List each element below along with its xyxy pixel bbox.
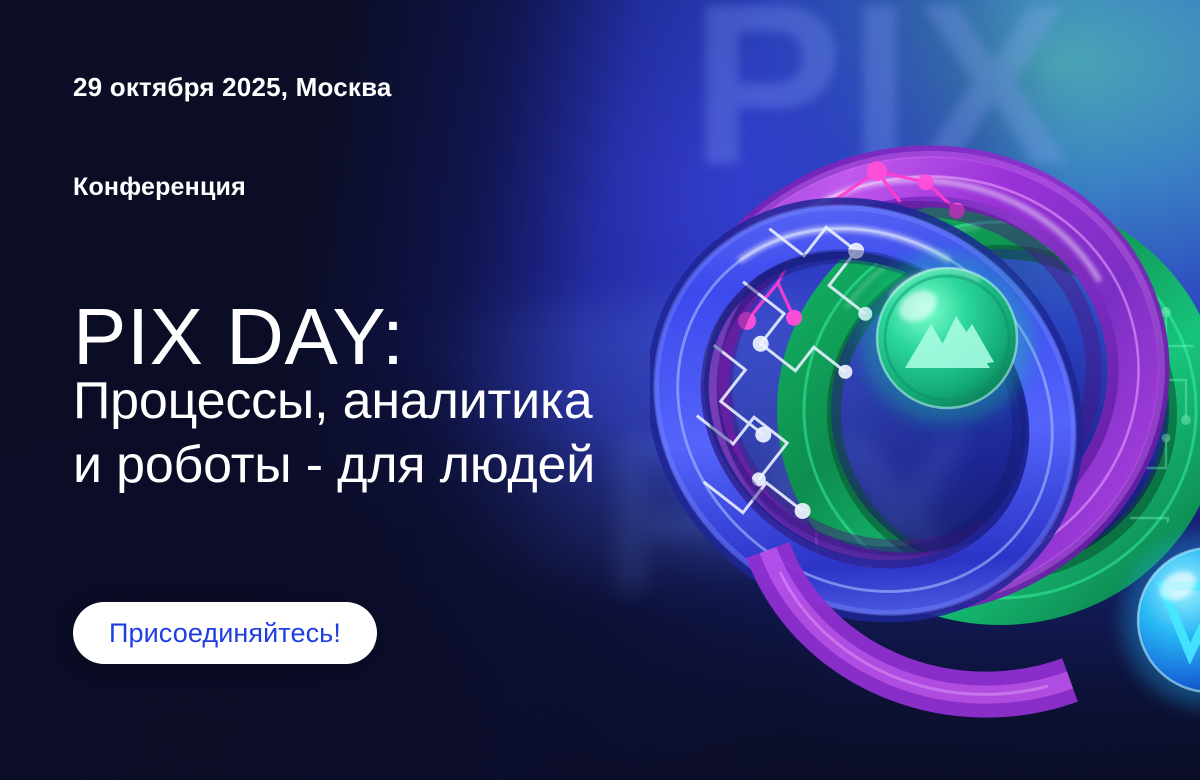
green-sphere-badge <box>861 252 1033 424</box>
event-type-label: Конференция <box>73 173 246 202</box>
banner-content: 29 октября 2025, Москва Конференция PIX … <box>73 0 773 780</box>
event-date-location: 29 октября 2025, Москва <box>73 72 392 103</box>
page-subtitle: Процессы, аналитика и роботы - для людей <box>73 370 595 498</box>
pix-day-banner: PIX PIX <box>0 0 1200 780</box>
join-button[interactable]: Присоединяйтесь! <box>73 602 377 664</box>
page-title: PIX DAY: <box>73 297 405 377</box>
